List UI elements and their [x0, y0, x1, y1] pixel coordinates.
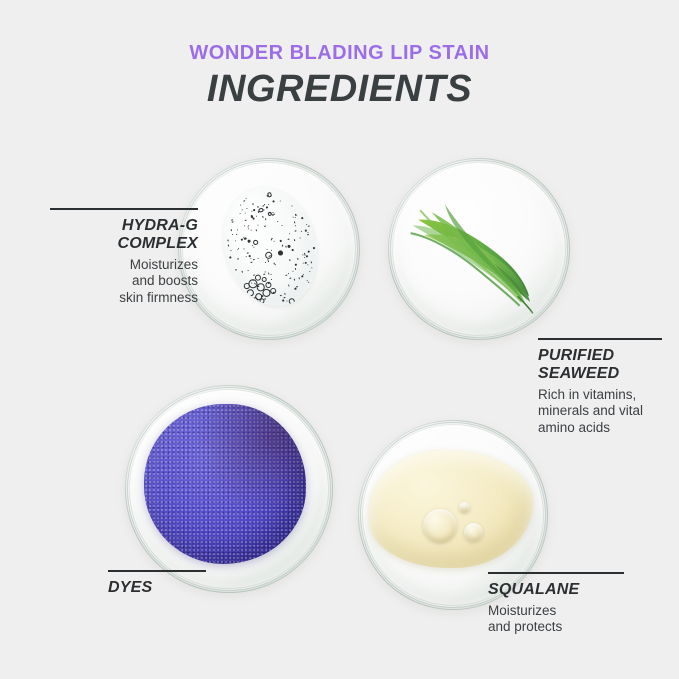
- gel-bubble: [292, 249, 294, 251]
- callout-desc-line1: Moisturizes: [50, 257, 198, 273]
- gel-bubble: [273, 201, 275, 203]
- gel-bubble: [248, 228, 250, 230]
- gel-bubble: [268, 204, 270, 206]
- gel-bubble: [237, 258, 239, 260]
- gel-bubble: [302, 276, 304, 278]
- gel-bubble: [271, 279, 272, 280]
- gel-bubble: [271, 250, 272, 251]
- gel-bubble: [309, 271, 310, 272]
- gel-bubble: [311, 262, 313, 264]
- gel-bubble: [294, 239, 296, 241]
- ingredients-infographic: WONDER BLADING LIP STAIN INGREDIENTS: [0, 0, 679, 679]
- gel-bubble: [305, 230, 307, 232]
- gel-bubble: [248, 225, 249, 226]
- callout-desc-line2: and boosts: [50, 273, 198, 289]
- gel-bubble: [256, 216, 257, 217]
- gel-bubble: [295, 264, 297, 266]
- gel-bubble: [232, 234, 233, 235]
- gel-bubble: [278, 250, 284, 256]
- gel-bubble: [265, 219, 267, 221]
- gel-bubble: [231, 229, 233, 231]
- gel-bubble: [307, 264, 309, 266]
- leader-line: [108, 570, 206, 572]
- gel-bubble: [263, 216, 264, 217]
- gel-bubble: [257, 258, 258, 259]
- gel-bubble: [242, 271, 243, 272]
- gel-bubble: [265, 298, 267, 300]
- gel-bubble: [250, 258, 251, 259]
- callout-desc-line2: minerals and vital: [538, 403, 666, 419]
- petri-dish-seaweed: [388, 158, 570, 340]
- gel-bubble: [256, 230, 258, 232]
- gel-bubble: [295, 217, 296, 218]
- callout-title-line1: SQUALANE: [488, 581, 628, 599]
- gel-bubble: [264, 273, 266, 275]
- gel-bubble: [290, 233, 291, 234]
- gel-bubble: [263, 205, 265, 207]
- gel-bubble: [308, 226, 309, 227]
- gel-bubble: [247, 240, 251, 244]
- gel-bubble: [306, 256, 308, 258]
- gel-bubble: [280, 200, 282, 202]
- gel-bubble: [242, 209, 243, 210]
- callout-description: Rich in vitamins, minerals and vital ami…: [538, 387, 666, 436]
- gel-bubble: [297, 215, 298, 216]
- callout-hydra-g: HYDRA-G COMPLEX Moisturizes and boosts s…: [50, 208, 198, 306]
- gel-bubble: [295, 288, 297, 290]
- callout-desc-line3: amino acids: [538, 420, 666, 436]
- gel-bubble: [295, 268, 297, 270]
- gel-bubble: [253, 246, 255, 248]
- gel-bubble: [251, 262, 253, 264]
- gel-bubble: [268, 192, 273, 197]
- gel-bubble: [285, 294, 286, 295]
- callout-title-line2: COMPLEX: [50, 235, 198, 253]
- gel-bubble: [252, 204, 254, 206]
- gel-bubble: [247, 226, 248, 227]
- page-heading: WONDER BLADING LIP STAIN INGREDIENTS: [0, 42, 679, 110]
- squalane-oil-pool: [369, 450, 532, 568]
- gel-bubble: [244, 225, 246, 227]
- gel-bubble: [243, 249, 244, 250]
- callout-title-line1: PURIFIED: [538, 347, 666, 365]
- gel-bubble: [301, 231, 302, 232]
- gel-blob-hydra-g: [211, 177, 332, 318]
- gel-bubble: [307, 280, 308, 281]
- gel-bubble: [230, 250, 231, 251]
- gel-bubble: [266, 249, 267, 250]
- gel-bubble: [232, 221, 234, 223]
- gel-bubble: [245, 212, 247, 214]
- gel-bubble: [284, 297, 286, 299]
- gel-bubble: [254, 209, 255, 210]
- callout-desc-line2: and protects: [488, 619, 628, 635]
- gel-bubble: [264, 210, 265, 211]
- callout-title: SQUALANE: [488, 581, 628, 599]
- gel-bubble: [235, 240, 237, 242]
- blue-dye-powder: [144, 404, 306, 564]
- gel-bubble: [286, 274, 287, 275]
- oil-droplet-medium: [464, 523, 483, 542]
- gel-bubble: [288, 273, 289, 274]
- gel-bubble: [238, 249, 239, 250]
- gel-bubble: [265, 262, 266, 263]
- gel-bubble: [308, 250, 310, 252]
- gel-bubble: [247, 252, 249, 254]
- callout-desc-line3: skin firmness: [50, 290, 198, 306]
- callout-title-line1: HYDRA-G: [50, 217, 198, 235]
- petri-dish-hydra-g: [178, 158, 360, 340]
- gel-bubble: [239, 248, 240, 249]
- gel-bubble: [282, 225, 283, 226]
- gel-bubble: [228, 245, 230, 247]
- gel-bubble: [240, 204, 241, 205]
- gel-bubble: [247, 208, 249, 210]
- gel-bubble: [246, 198, 247, 199]
- gel-bubble: [294, 279, 296, 281]
- gel-bubble: [288, 238, 290, 240]
- gel-bubble: [271, 274, 272, 275]
- gel-bubble: [251, 229, 252, 230]
- gel-bubble: [275, 264, 276, 265]
- gel-bubble: [289, 277, 291, 279]
- seaweed-illustration: [403, 183, 556, 318]
- gel-bubble: [268, 261, 269, 262]
- gel-bubble: [273, 241, 274, 242]
- callout-title-line1: DYES: [108, 579, 208, 597]
- callout-desc-line1: Moisturizes: [488, 603, 628, 619]
- gel-bubble: [295, 231, 297, 233]
- gel-bubble-cluster: [270, 287, 278, 295]
- callout-squalane: SQUALANE Moisturizes and protects: [488, 572, 628, 636]
- gel-bubble: [289, 259, 291, 261]
- gel-bubble: [280, 240, 282, 242]
- callout-purified-seaweed: PURIFIED SEAWEED Rich in vitamins, miner…: [538, 338, 666, 436]
- gel-bubble: [292, 205, 293, 206]
- gel-bubble: [282, 245, 284, 247]
- gel-bubble: [289, 298, 296, 305]
- gel-bubble: [265, 251, 274, 260]
- gel-bubble: [253, 218, 255, 220]
- gel-bubble: [266, 206, 268, 208]
- oil-droplet-large: [423, 509, 457, 543]
- gel-bubble: [287, 244, 291, 248]
- gel-bubble: [277, 221, 279, 223]
- oil-droplet-small: [459, 502, 470, 513]
- gel-bubble: [246, 256, 247, 257]
- leader-line: [538, 338, 662, 340]
- gel-bubble: [300, 237, 301, 238]
- gel-bubble: [253, 259, 255, 261]
- callout-title-line2: SEAWEED: [538, 365, 666, 383]
- gel-bubble: [297, 258, 299, 260]
- gel-bubble: [253, 240, 259, 246]
- gel-bubble: [289, 285, 290, 286]
- gel-bubble: [280, 295, 281, 296]
- gel-bubble: [313, 247, 315, 249]
- gel-bubble: [243, 200, 245, 202]
- gel-bubble: [298, 277, 300, 279]
- callout-title: HYDRA-G COMPLEX: [50, 217, 198, 253]
- gel-bubble: [293, 271, 294, 272]
- gel-bubble: [294, 221, 296, 223]
- gel-bubble: [312, 268, 313, 269]
- gel-bubble: [265, 271, 266, 272]
- gel-bubble: [308, 282, 309, 283]
- leader-line: [488, 572, 624, 574]
- gel-bubble: [230, 257, 232, 259]
- callout-description: Moisturizes and protects: [488, 603, 628, 636]
- gel-bubble: [236, 269, 237, 270]
- callout-title: PURIFIED SEAWEED: [538, 347, 666, 383]
- gel-bubble: [295, 225, 296, 226]
- callout-description: Moisturizes and boosts skin firmness: [50, 257, 198, 306]
- gel-bubble: [247, 270, 248, 271]
- gel-bubble: [240, 213, 241, 214]
- page-title: INGREDIENTS: [0, 70, 679, 110]
- gel-bubble: [237, 229, 239, 231]
- gel-bubble: [301, 217, 303, 219]
- callout-dyes: DYES: [108, 570, 208, 597]
- gel-bubble: [296, 286, 298, 288]
- product-kicker: WONDER BLADING LIP STAIN: [0, 42, 679, 64]
- gel-bubble: [265, 225, 266, 226]
- gel-bubble: [245, 220, 247, 222]
- callout-title: DYES: [108, 579, 208, 597]
- gel-bubble: [283, 300, 285, 302]
- gel-bubble: [257, 224, 259, 226]
- gel-bubble-cluster: [246, 289, 254, 297]
- gel-bubble: [241, 239, 243, 241]
- powder-shadow: [144, 404, 306, 564]
- gel-bubble: [308, 234, 310, 236]
- gel-bubble: [227, 239, 229, 241]
- callout-desc-line1: Rich in vitamins,: [538, 387, 666, 403]
- leader-line: [50, 208, 198, 210]
- petri-dish-dyes: [125, 385, 333, 593]
- gel-bubble: [274, 213, 276, 215]
